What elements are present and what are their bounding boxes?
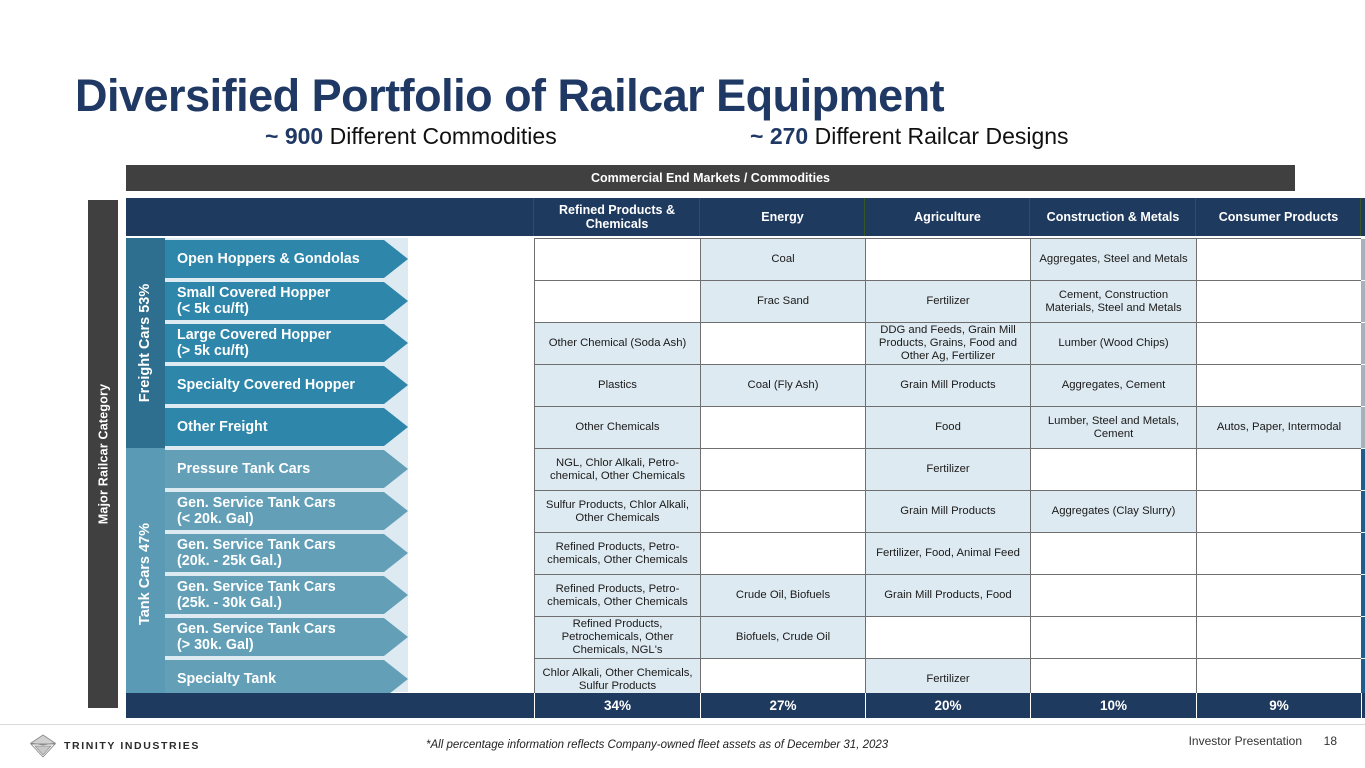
matrix-cell-empty[interactable]: [700, 448, 865, 490]
subtitle-row: ~ 900 Different Commodities ~ 270 Differ…: [130, 123, 1230, 153]
footer-divider: [0, 724, 1365, 725]
header-cell-refined-products-chemicals[interactable]: Refined Products & Chemicals: [534, 198, 700, 236]
row-label-line: Gen. Service Tank Cars: [177, 495, 336, 511]
matrix-cell[interactable]: NGL, Chlor Alkali, Petro-chemical, Other…: [534, 448, 700, 490]
row-label-line: (20k. - 25k Gal.): [177, 553, 336, 569]
totals-cell: 34%: [534, 693, 700, 718]
totals-cell: 10%: [1030, 693, 1196, 718]
group-spine-tank: Tank Cars 47%: [126, 448, 165, 700]
row-label-wrapper: Large Covered Hopper(> 5k cu/ft): [165, 324, 408, 362]
trinity-wordmark: TRINITY INDUSTRIES: [64, 740, 200, 752]
header-cell-agriculture[interactable]: Agriculture: [865, 198, 1030, 236]
matrix-cell[interactable]: Lumber, Steel and Metals, Cement: [1030, 406, 1196, 448]
matrix-cell[interactable]: Aggregates, Steel and Metals: [1030, 238, 1196, 280]
totals-cell-blank: [126, 693, 534, 718]
row-label-wrapper: Small Covered Hopper(< 5k cu/ft): [165, 282, 408, 320]
row-percent-badge: 3%: [1361, 490, 1365, 532]
matrix-cell[interactable]: Frac Sand: [700, 280, 865, 322]
matrix-cell[interactable]: Lumber (Wood Chips): [1030, 322, 1196, 364]
row-label-small-covered-hopper[interactable]: Small Covered Hopper(< 5k cu/ft): [165, 282, 408, 320]
matrix-cell-empty[interactable]: [700, 490, 865, 532]
group-spine-label: Tank Cars 47%: [138, 523, 154, 625]
matrix-header-row: Refined Products & ChemicalsEnergyAgricu…: [126, 198, 1295, 236]
row-label-line: Specialty Tank: [177, 671, 276, 687]
matrix-cell[interactable]: Aggregates, Cement: [1030, 364, 1196, 406]
page-number: 18: [1324, 734, 1337, 748]
row-label-line: (> 5k cu/ft): [177, 343, 331, 359]
header-separator: [699, 198, 700, 236]
matrix-cell[interactable]: Aggregates (Clay Slurry): [1030, 490, 1196, 532]
commodity-count: ~ 900: [265, 123, 323, 149]
row-label-line: Gen. Service Tank Cars: [177, 579, 336, 595]
row-label-gen-service-tank-cars[interactable]: Gen. Service Tank Cars(> 30k. Gal): [165, 618, 408, 656]
matrix-cell[interactable]: Refined Products, Petrochemicals, Other …: [534, 616, 700, 658]
header-cell-percent: [1361, 198, 1365, 236]
group-spine-freight: Freight Cars 53%: [126, 238, 165, 448]
matrix-cell-empty[interactable]: [700, 322, 865, 364]
header-separator: [1195, 198, 1196, 236]
header-cell-consumer-products[interactable]: Consumer Products: [1196, 198, 1361, 236]
row-label-line: (25k. - 30k Gal.): [177, 595, 336, 611]
row-label-pressure-tank-cars[interactable]: Pressure Tank Cars: [165, 450, 408, 488]
matrix-cell-empty[interactable]: [700, 532, 865, 574]
row-label-line: (> 30k. Gal): [177, 637, 336, 653]
matrix-cell-empty[interactable]: [1196, 490, 1361, 532]
matrix-cell[interactable]: Biofuels, Crude Oil: [700, 616, 865, 658]
matrix-cell-empty[interactable]: [534, 280, 700, 322]
matrix-cell[interactable]: Fertilizer: [865, 448, 1030, 490]
matrix-cell-empty[interactable]: [1196, 448, 1361, 490]
commercial-end-markets-banner: Commercial End Markets / Commodities: [126, 165, 1295, 191]
row-label-wrapper: Gen. Service Tank Cars(25k. - 30k Gal.): [165, 576, 408, 614]
header-separator: [864, 198, 865, 236]
matrix-cell[interactable]: Grain Mill Products: [865, 364, 1030, 406]
row-label-other-freight[interactable]: Other Freight: [165, 408, 408, 446]
matrix-totals-row: 34%27%20%10%9%: [126, 693, 1295, 718]
row-percent-badge: 5%: [1361, 532, 1365, 574]
matrix-cell-empty[interactable]: [1196, 616, 1361, 658]
major-railcar-category-label: Major Railcar Category: [96, 384, 110, 525]
header-cell-energy[interactable]: Energy: [700, 198, 865, 236]
header-cell-blank: [126, 198, 534, 236]
row-label-large-covered-hopper[interactable]: Large Covered Hopper(> 5k cu/ft): [165, 324, 408, 362]
row-label-line: Pressure Tank Cars: [177, 461, 310, 477]
design-count: ~ 270: [750, 123, 808, 149]
row-label-wrapper: Other Freight: [165, 408, 408, 446]
totals-cell: 9%: [1196, 693, 1361, 718]
row-percent-badge: 11%: [1361, 406, 1365, 448]
matrix-cell-empty[interactable]: [1030, 532, 1196, 574]
row-label-wrapper: Specialty Covered Hopper: [165, 366, 408, 404]
major-railcar-category-axis: Major Railcar Category: [88, 200, 118, 708]
commodity-count-label: Different Commodities: [323, 123, 557, 149]
banner-label: Commercial End Markets / Commodities: [591, 171, 830, 185]
row-percent-badge: 12%: [1361, 280, 1365, 322]
row-label-gen-service-tank-cars[interactable]: Gen. Service Tank Cars(< 20k. Gal): [165, 492, 408, 530]
row-percent-badge: 13%: [1361, 616, 1365, 658]
matrix-cell[interactable]: Refined Products, Petro-chemicals, Other…: [534, 574, 700, 616]
matrix-cell-empty[interactable]: [1196, 322, 1361, 364]
matrix-cell[interactable]: Sulfur Products, Chlor Alkali, Other Che…: [534, 490, 700, 532]
row-label-gen-service-tank-cars[interactable]: Gen. Service Tank Cars(25k. - 30k Gal.): [165, 576, 408, 614]
matrix-cell[interactable]: Grain Mill Products: [865, 490, 1030, 532]
row-label-wrapper: Open Hoppers & Gondolas: [165, 240, 408, 278]
trinity-diamond-icon: [30, 734, 56, 758]
header-separator: [1029, 198, 1030, 236]
commodity-matrix: Refined Products & ChemicalsEnergyAgricu…: [126, 198, 1295, 718]
row-label-wrapper: Gen. Service Tank Cars(< 20k. Gal): [165, 492, 408, 530]
matrix-cell[interactable]: Fertilizer: [865, 280, 1030, 322]
group-spine-label: Freight Cars 53%: [138, 284, 154, 402]
header-separator: [1360, 198, 1361, 236]
page-title: Diversified Portfolio of Railcar Equipme…: [75, 70, 1075, 122]
row-label-line: (< 5k cu/ft): [177, 301, 330, 317]
row-label-wrapper: Gen. Service Tank Cars(20k. - 25k Gal.): [165, 534, 408, 572]
row-percent-badge: 12%: [1361, 574, 1365, 616]
matrix-cell[interactable]: DDG and Feeds, Grain Mill Products, Grai…: [865, 322, 1030, 364]
matrix-cell-empty[interactable]: [1196, 574, 1361, 616]
matrix-cell[interactable]: Crude Oil, Biofuels: [700, 574, 865, 616]
row-percent-badge: 12%: [1361, 322, 1365, 364]
matrix-cell[interactable]: Fertilizer, Food, Animal Feed: [865, 532, 1030, 574]
header-cell-construction-metals[interactable]: Construction & Metals: [1030, 198, 1196, 236]
totals-cell: 27%: [700, 693, 865, 718]
matrix-cell-empty[interactable]: [700, 406, 865, 448]
matrix-cell[interactable]: Autos, Paper, Intermodal: [1196, 406, 1361, 448]
row-label-line: Gen. Service Tank Cars: [177, 621, 336, 637]
header-separator: [533, 198, 534, 236]
row-label-specialty-covered-hopper[interactable]: Specialty Covered Hopper: [165, 366, 408, 404]
matrix-cell[interactable]: Grain Mill Products, Food: [865, 574, 1030, 616]
deck-name: Investor Presentation: [1189, 734, 1302, 748]
row-percent-badge: 7%: [1361, 364, 1365, 406]
matrix-cell-empty[interactable]: [1196, 364, 1361, 406]
row-label-line: Other Freight: [177, 419, 268, 435]
row-label-open-hoppers-gondolas[interactable]: Open Hoppers & Gondolas: [165, 240, 408, 278]
matrix-cell-empty[interactable]: [1196, 532, 1361, 574]
row-label-line: Large Covered Hopper: [177, 327, 331, 343]
design-count-label: Different Railcar Designs: [808, 123, 1068, 149]
totals-cell-percent-blank: [1361, 693, 1365, 718]
row-label-line: Small Covered Hopper: [177, 285, 330, 301]
matrix-cell-empty[interactable]: [1030, 448, 1196, 490]
matrix-cell-empty[interactable]: [865, 616, 1030, 658]
matrix-cell-empty[interactable]: [865, 238, 1030, 280]
matrix-cell[interactable]: Cement, Construction Materials, Steel an…: [1030, 280, 1196, 322]
matrix-cell-empty[interactable]: [1030, 616, 1196, 658]
row-label-line: Gen. Service Tank Cars: [177, 537, 336, 553]
row-label-line: Specialty Covered Hopper: [177, 377, 355, 393]
subtitle-commodities: ~ 900 Different Commodities: [265, 123, 557, 150]
row-label-line: (< 20k. Gal): [177, 511, 336, 527]
row-label-line: Open Hoppers & Gondolas: [177, 251, 360, 267]
matrix-cell[interactable]: Other Chemical (Soda Ash): [534, 322, 700, 364]
matrix-cell[interactable]: Refined Products, Petro-chemicals, Other…: [534, 532, 700, 574]
matrix-cell-empty[interactable]: [1196, 280, 1361, 322]
matrix-cell[interactable]: Coal (Fly Ash): [700, 364, 865, 406]
matrix-cell-empty[interactable]: [534, 238, 700, 280]
row-percent-badge: 9%: [1361, 448, 1365, 490]
row-label-gen-service-tank-cars[interactable]: Gen. Service Tank Cars(20k. - 25k Gal.): [165, 534, 408, 572]
matrix-cell[interactable]: Coal: [700, 238, 865, 280]
totals-cell: 20%: [865, 693, 1030, 718]
row-label-wrapper: Pressure Tank Cars: [165, 450, 408, 488]
matrix-cell[interactable]: Food: [865, 406, 1030, 448]
subtitle-designs: ~ 270 Different Railcar Designs: [750, 123, 1069, 150]
row-percent-badge: 11%: [1361, 238, 1365, 280]
matrix-cell[interactable]: Plastics: [534, 364, 700, 406]
matrix-cell[interactable]: Other Chemicals: [534, 406, 700, 448]
footnote-disclaimer: *All percentage information reflects Com…: [426, 739, 888, 751]
row-label-wrapper: Gen. Service Tank Cars(> 30k. Gal): [165, 618, 408, 656]
matrix-cell-empty[interactable]: [1196, 238, 1361, 280]
trinity-logo: TRINITY INDUSTRIES: [30, 734, 200, 758]
matrix-cell-empty[interactable]: [1030, 574, 1196, 616]
